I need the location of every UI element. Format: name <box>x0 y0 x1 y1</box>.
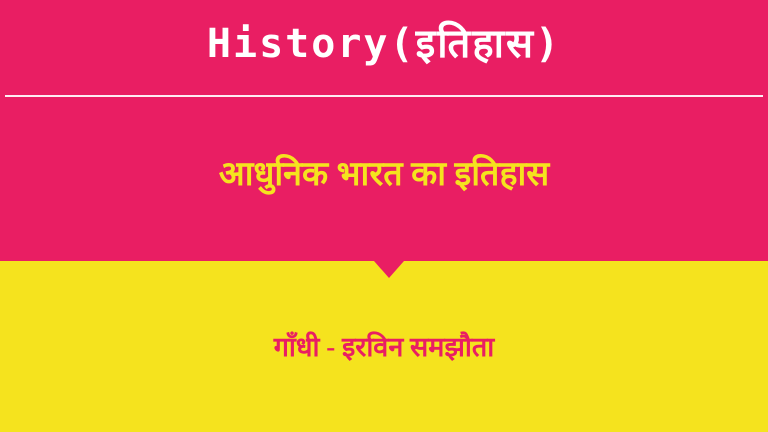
slide-root: History(इतिहास) आधुनिक भारत का इतिहास गा… <box>0 0 768 432</box>
topic-label: गाँधी - इरविन समझौता <box>0 328 768 366</box>
subject-subtitle: आधुनिक भारत का इतिहास <box>0 152 768 198</box>
triangle-down-icon <box>374 261 404 278</box>
page-title: History(इतिहास) <box>0 16 768 72</box>
title-divider <box>5 95 763 97</box>
